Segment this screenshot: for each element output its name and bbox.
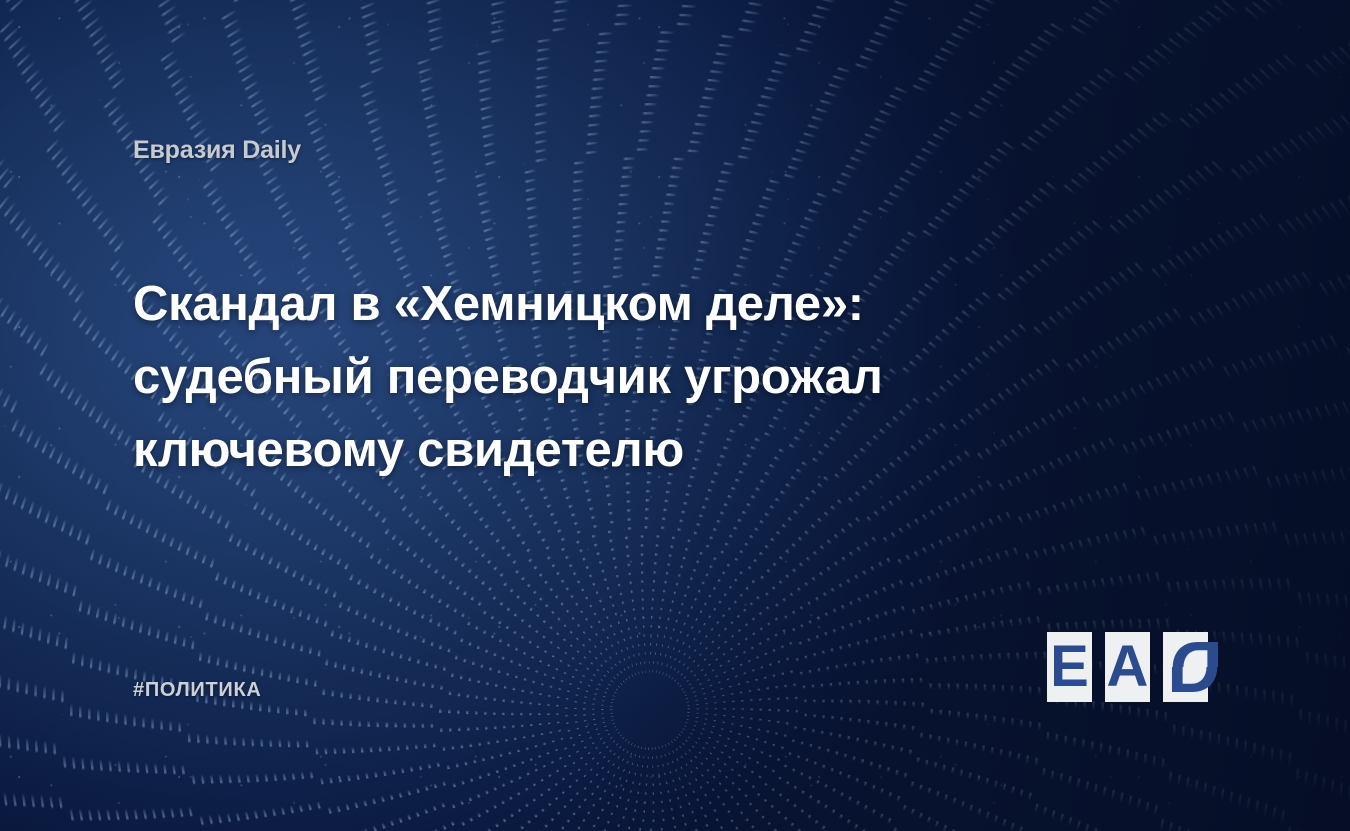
card-content: Евразия Daily Скандал в «Хемницком деле»…	[0, 0, 1350, 831]
news-cover-card: Евразия Daily Скандал в «Хемницком деле»…	[0, 0, 1350, 831]
ead-letter-d-bottom-half: D	[1163, 667, 1223, 702]
ead-letter-a: A	[1105, 632, 1150, 702]
ead-letter-d-glyph-bottom: D	[1167, 667, 1223, 702]
ead-letter-e: E	[1047, 632, 1092, 702]
brand-wordmark: Евразия Daily	[133, 136, 301, 165]
ead-letter-d-glyph-top: D	[1167, 632, 1223, 667]
ead-logo: E A D D	[1047, 632, 1209, 702]
ead-letter-d-top-half: D	[1163, 632, 1223, 667]
ead-letter-d: D D	[1163, 632, 1208, 702]
category-hashtag: #ПОЛИТИКА	[133, 679, 262, 702]
headline: Скандал в «Хемницком деле»: судебный пер…	[133, 268, 1033, 487]
